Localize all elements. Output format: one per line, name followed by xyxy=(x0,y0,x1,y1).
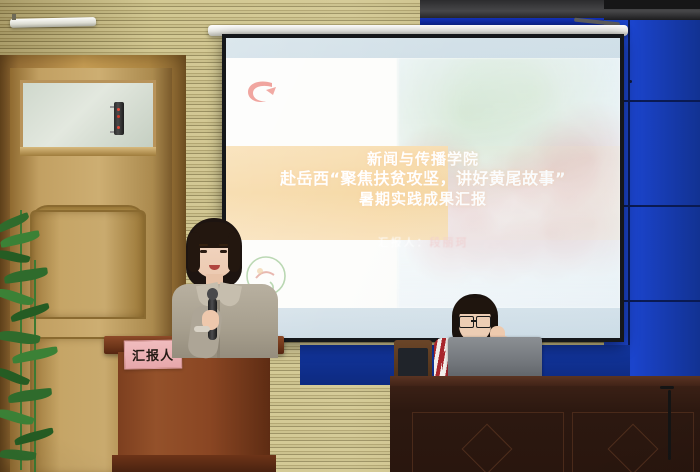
slide-title-line-2: 赴岳西“聚焦扶贫攻坚，讲好黄尾故事” xyxy=(226,169,620,189)
table-panel-left xyxy=(412,412,564,472)
slide-title-line-3: 暑期实践成果汇报 xyxy=(226,190,620,209)
presenter-eye-left xyxy=(200,250,207,253)
fluorescent-tube-light xyxy=(10,17,96,28)
slide-title-line-1: 新闻与传播学院 xyxy=(226,150,620,169)
presenter-at-podium xyxy=(168,218,288,358)
presenter-wristwatch xyxy=(194,326,210,332)
light-bracket xyxy=(12,14,16,20)
podium-base xyxy=(112,455,276,472)
eyeglasses-lens-left xyxy=(459,316,474,328)
assistant-bangs xyxy=(454,298,496,314)
wall-screw-dot-icon xyxy=(629,80,632,83)
power-cable xyxy=(668,390,671,460)
microphone-head-icon xyxy=(207,288,218,300)
potted-palm-plant xyxy=(0,200,69,472)
classroom-presentation-photo: 新闻与传播学院 赴岳西“聚焦扶贫攻坚，讲好黄尾故事” 暑期实践成果汇报 汇报人：… xyxy=(0,0,700,472)
presenter-brow-left xyxy=(199,244,208,246)
frosted-glass-panel xyxy=(20,80,156,150)
presenter-eye-right xyxy=(220,250,227,253)
eyeglasses-bridge xyxy=(471,320,477,322)
power-cable-bend xyxy=(660,386,674,389)
university-swoosh-logo xyxy=(242,78,282,108)
slide-presenter-name: 段丽珂 xyxy=(430,236,469,249)
podium-body xyxy=(118,352,270,472)
hp-laptop[interactable]: HP xyxy=(448,337,542,379)
chair-cushion xyxy=(398,348,428,378)
dark-ceiling-beam-right xyxy=(604,0,700,9)
slide-presenter-label: 汇报人： xyxy=(378,236,430,249)
slide-title: 新闻与传播学院 赴岳西“聚焦扶贫攻坚，讲好黄尾故事” 暑期实践成果汇报 xyxy=(226,150,620,209)
door-mid-rail xyxy=(20,147,156,156)
presenter-brow-right xyxy=(219,244,228,246)
eyeglasses-lens-right xyxy=(476,316,491,328)
presenter-hair-right xyxy=(228,232,240,272)
presenter-hair-left xyxy=(188,232,200,272)
table-panel-right xyxy=(572,412,694,472)
electronic-door-lock[interactable] xyxy=(114,102,124,135)
